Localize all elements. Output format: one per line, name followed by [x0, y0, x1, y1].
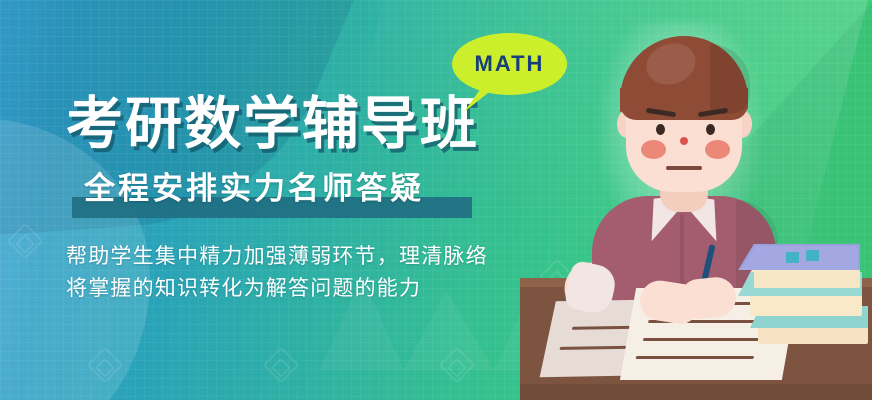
book-top-cover-face	[740, 246, 858, 270]
book-label-icon	[786, 252, 799, 263]
watermark-diamond-icon	[263, 347, 300, 384]
eye-right	[706, 124, 715, 135]
eye-left	[656, 124, 665, 135]
cheek-right	[705, 140, 730, 159]
paper-line	[559, 346, 634, 350]
banner-title: 考研数学辅导班	[66, 96, 536, 153]
book-label-icon	[806, 250, 819, 261]
nose	[680, 137, 688, 145]
banner-subtitle: 全程安排实力名师答疑	[66, 173, 536, 206]
paper-line	[643, 338, 760, 341]
cheek-left	[641, 140, 666, 159]
promo-banner: MATH 考研数学辅导班 全程安排实力名师答疑 帮助学生集中精力加强薄弱环节，理…	[0, 0, 872, 400]
math-speech-bubble: MATH	[452, 33, 567, 95]
banner-body-line-2: 将掌握的知识转化为解答问题的能力	[66, 273, 536, 305]
banner-subtitle-wrap: 全程安排实力名师答疑	[66, 173, 536, 219]
banner-copy: 考研数学辅导班 全程安排实力名师答疑 帮助学生集中精力加强薄弱环节，理清脉络 将…	[66, 96, 536, 305]
paper-line	[636, 356, 755, 359]
speech-bubble-label: MATH	[452, 33, 567, 95]
banner-body-line-1: 帮助学生集中精力加强薄弱环节，理清脉络	[66, 241, 536, 273]
shirt-placket	[680, 214, 684, 284]
desk-shadow	[520, 384, 872, 400]
mouth	[666, 166, 702, 170]
banner-body-copy: 帮助学生集中精力加强薄弱环节，理清脉络 将掌握的知识转化为解答问题的能力	[66, 241, 536, 305]
